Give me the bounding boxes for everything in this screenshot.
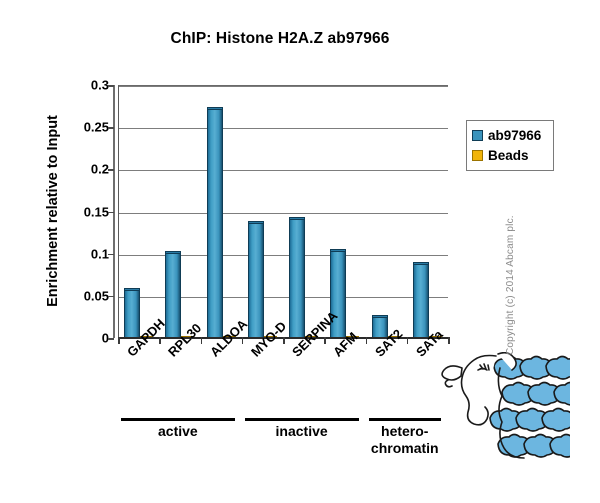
gridline bbox=[119, 86, 448, 87]
bar-cap bbox=[124, 288, 140, 291]
group-bracket bbox=[369, 418, 442, 421]
bar-ab97966[interactable] bbox=[413, 262, 429, 338]
chart-title: ChIP: Histone H2A.Z ab97966 bbox=[110, 30, 450, 48]
bar-cap bbox=[289, 217, 305, 220]
legend-label-beads: Beads bbox=[488, 148, 529, 163]
bar-body bbox=[207, 107, 223, 338]
bar-cap bbox=[165, 251, 181, 254]
bar-ab97966[interactable] bbox=[207, 107, 223, 338]
bar-body bbox=[289, 217, 305, 338]
y-tick-label: 0 bbox=[63, 331, 109, 346]
x-tick-mark bbox=[324, 337, 326, 344]
gridline bbox=[119, 213, 448, 214]
group-bracket bbox=[245, 418, 359, 421]
y-tick-mark bbox=[108, 212, 114, 214]
copyright-notice: Copyright (c) 2014 Abcam plc. bbox=[505, 165, 516, 355]
x-tick-mark bbox=[366, 337, 368, 344]
x-tick-mark bbox=[407, 337, 409, 344]
y-tick-label: 0.3 bbox=[63, 78, 109, 93]
group-label-inactive: inactive bbox=[245, 423, 359, 440]
bar-cap bbox=[207, 107, 223, 110]
chart-figure: ChIP: Histone H2A.Z ab97966 Enrichment r… bbox=[0, 0, 600, 503]
sheep-illustration bbox=[438, 352, 570, 484]
bar-cap bbox=[330, 249, 346, 252]
y-tick-label: 0.1 bbox=[63, 246, 109, 261]
bar-ab97966[interactable] bbox=[248, 221, 264, 338]
x-tick-mark bbox=[448, 337, 450, 344]
legend-item-ab97966[interactable]: ab97966 bbox=[472, 125, 548, 145]
x-tick-mark bbox=[242, 337, 244, 344]
legend-item-beads[interactable]: Beads bbox=[472, 145, 548, 165]
group-label-active: active bbox=[121, 423, 235, 440]
bar-cap bbox=[372, 315, 388, 318]
group-bracket bbox=[121, 418, 235, 421]
x-tick-mark bbox=[201, 337, 203, 344]
bar-cap bbox=[248, 221, 264, 224]
legend-swatch-beads bbox=[472, 150, 483, 161]
y-tick-label: 0.25 bbox=[63, 120, 109, 135]
bar-cap bbox=[413, 262, 429, 265]
bar-ab97966[interactable] bbox=[289, 217, 305, 338]
x-tick-mark bbox=[118, 337, 120, 344]
y-tick-mark bbox=[108, 169, 114, 171]
y-tick-label: 0.15 bbox=[63, 204, 109, 219]
y-tick-mark bbox=[108, 85, 114, 87]
y-tick-mark bbox=[108, 254, 114, 256]
legend-label-ab97966: ab97966 bbox=[488, 128, 541, 143]
bar-body bbox=[413, 262, 429, 338]
x-tick-mark bbox=[283, 337, 285, 344]
y-tick-mark bbox=[108, 338, 114, 340]
bar-body bbox=[124, 288, 140, 338]
legend-swatch-ab97966 bbox=[472, 130, 483, 141]
bar-ab97966[interactable] bbox=[124, 288, 140, 338]
gridline bbox=[119, 128, 448, 129]
gridline bbox=[119, 170, 448, 171]
bar-ab97966[interactable] bbox=[165, 251, 181, 338]
y-tick-label: 0.05 bbox=[63, 288, 109, 303]
plot-area bbox=[118, 85, 448, 338]
y-tick-label: 0.2 bbox=[63, 162, 109, 177]
bar-body bbox=[248, 221, 264, 338]
y-tick-mark bbox=[108, 127, 114, 129]
group-label-hetero: hetero-chromatin bbox=[369, 423, 442, 457]
bar-body bbox=[165, 251, 181, 338]
chart-legend: ab97966 Beads bbox=[466, 120, 554, 171]
x-tick-mark bbox=[159, 337, 161, 344]
y-tick-mark bbox=[108, 296, 114, 298]
y-axis-tick-labels: 00.050.10.150.20.250.3 bbox=[59, 0, 109, 503]
